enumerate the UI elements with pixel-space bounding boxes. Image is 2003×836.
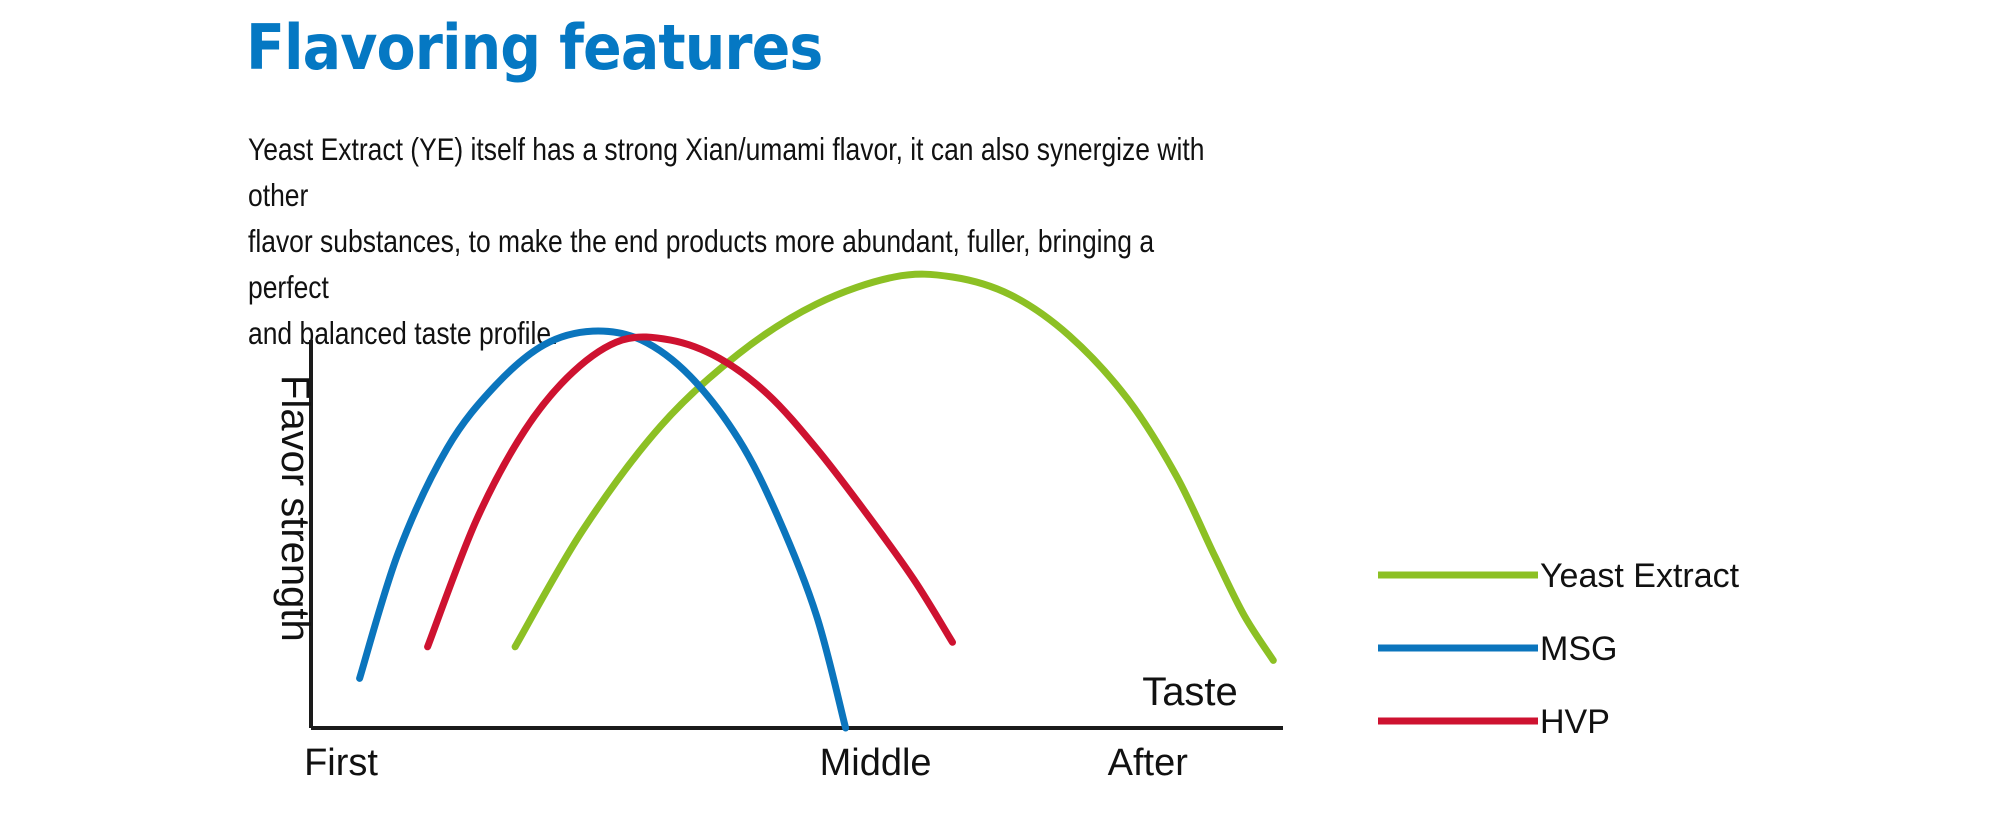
flavor-strength-chart: FirstMiddleAfter Taste Flavor strength Y… (0, 0, 2003, 836)
chart-axes (311, 340, 1283, 728)
series-line-msg (360, 331, 846, 728)
x-tick-label-middle: Middle (820, 742, 932, 784)
slide-root: Flavoring features Yeast Extract (YE) it… (0, 0, 2003, 836)
x-tick-label-after: After (1108, 742, 1189, 784)
chart-series-group (360, 274, 1274, 728)
legend-label-hvp: HVP (1540, 703, 1610, 741)
legend-label-yeast-extract: Yeast Extract (1540, 557, 1740, 595)
legend-label-msg: MSG (1540, 630, 1617, 668)
series-line-hvp (428, 337, 953, 647)
x-axis-tick-labels: FirstMiddleAfter (304, 742, 1188, 784)
x-tick-label-first: First (304, 742, 378, 784)
y-axis-title: Flavor strength (273, 375, 317, 642)
chart-legend: Yeast ExtractMSGHVP (1378, 557, 1740, 741)
chart-canvas: FirstMiddleAfter Taste Flavor strength Y… (0, 0, 2003, 836)
x-axis-title: Taste (1142, 670, 1238, 714)
